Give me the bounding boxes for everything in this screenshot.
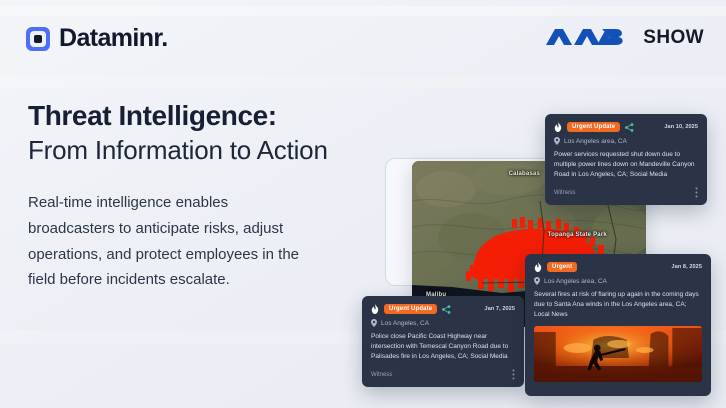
alert-body-text: Police close Pacific Coast Highway near … bbox=[371, 332, 515, 362]
more-options-icon[interactable] bbox=[512, 369, 515, 380]
alert-header: Urgent Update Jan 7, 2025 bbox=[371, 304, 515, 314]
dataminr-brand: Dataminr. bbox=[26, 26, 168, 51]
brand-name: Dataminr. bbox=[59, 26, 168, 51]
nab-show-label: SHOW bbox=[643, 28, 704, 47]
slide-header: Dataminr. SHOW bbox=[0, 0, 726, 78]
nab-show-brand: SHOW bbox=[544, 24, 704, 50]
alert-location-text: Los Angeles area, CA bbox=[544, 278, 607, 285]
slide-root: Dataminr. SHOW Threat Intelligence: From… bbox=[0, 0, 726, 408]
alert-location-text: Los Angeles, CA bbox=[381, 320, 429, 327]
alert-location: Los Angeles area, CA bbox=[554, 137, 698, 145]
alert-source: Witness bbox=[371, 372, 392, 378]
alert-footer: Witness bbox=[554, 187, 698, 198]
location-pin-icon bbox=[371, 319, 377, 327]
fire-icon bbox=[554, 122, 562, 132]
alert-body-text: Several fires at risk of flaring up agai… bbox=[534, 290, 702, 320]
location-pin-icon bbox=[554, 137, 560, 145]
alert-card[interactable]: Urgent Update Jan 10, 2025 Los Angeles a… bbox=[545, 114, 707, 205]
alert-footer: Witness bbox=[371, 369, 515, 380]
dataminr-logo-icon bbox=[26, 27, 50, 51]
page-title: Threat Intelligence: From Information to… bbox=[28, 99, 408, 166]
map-label-topanga: Topanga State Park bbox=[548, 232, 607, 238]
alert-location: Los Angeles, CA bbox=[371, 319, 515, 327]
alert-date: Jan 7, 2025 bbox=[485, 306, 515, 312]
visual-composition: Calabasas Topanga State Park Malibu Urge… bbox=[380, 106, 726, 408]
share-icon[interactable] bbox=[625, 123, 634, 132]
map-label-calabasas: Calabasas bbox=[509, 171, 541, 177]
share-icon[interactable] bbox=[442, 305, 451, 314]
status-badge: Urgent Update bbox=[567, 122, 620, 132]
status-badge: Urgent Update bbox=[384, 304, 437, 314]
location-pin-icon bbox=[534, 277, 540, 285]
alert-header: Urgent Update Jan 10, 2025 bbox=[554, 122, 698, 132]
headline-line-2: From Information to Action bbox=[28, 134, 408, 166]
fire-icon bbox=[534, 262, 542, 272]
status-badge: Urgent bbox=[547, 262, 577, 272]
alert-date: Jan 10, 2025 bbox=[664, 124, 698, 130]
headline-line-1: Threat Intelligence: bbox=[28, 99, 408, 132]
wildfire-photo bbox=[534, 326, 702, 382]
body-paragraph: Real-time intelligence enables broadcast… bbox=[28, 190, 316, 293]
alert-source: Witness bbox=[554, 190, 575, 196]
alert-location: Los Angeles area, CA bbox=[534, 277, 702, 285]
nab-logo-icon bbox=[544, 24, 636, 50]
alert-card[interactable]: Urgent Jan 8, 2025 Los Angeles area, CA … bbox=[525, 254, 711, 396]
fire-icon bbox=[371, 304, 379, 314]
alert-body-text: Power services requested shut down due t… bbox=[554, 150, 698, 180]
alert-card[interactable]: Urgent Update Jan 7, 2025 Los Angeles, C… bbox=[362, 296, 524, 387]
alert-date: Jan 8, 2025 bbox=[672, 264, 702, 270]
alert-location-text: Los Angeles area, CA bbox=[564, 138, 627, 145]
alert-header: Urgent Jan 8, 2025 bbox=[534, 262, 702, 272]
more-options-icon[interactable] bbox=[695, 187, 698, 198]
